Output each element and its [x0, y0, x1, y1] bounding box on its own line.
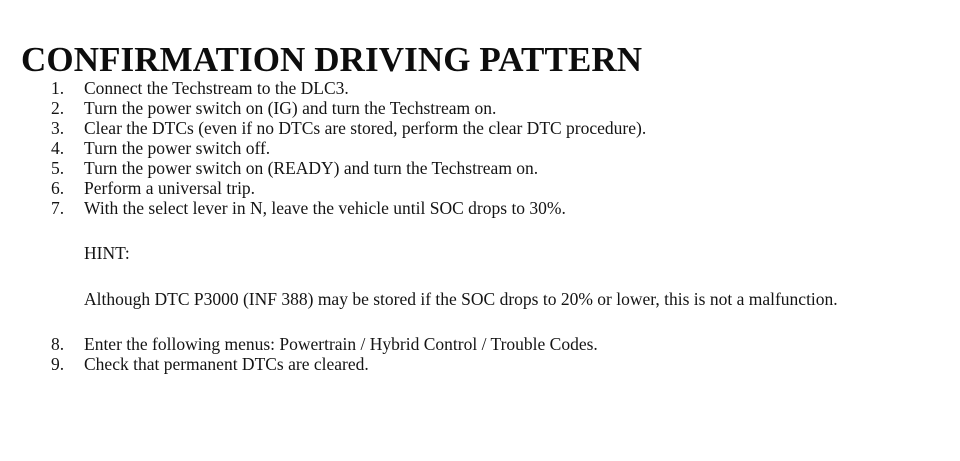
list-item-label: Perform a universal trip. [84, 178, 255, 198]
hint-top-spacer [84, 218, 900, 243]
procedure-list-part-1: 1. Connect the Techstream to the DLC3. 2… [0, 78, 960, 218]
list-item: 6. Perform a universal trip. [0, 178, 960, 198]
hint-mid-spacer [84, 263, 900, 289]
list-item: 1. Connect the Techstream to the DLC3. [0, 78, 960, 98]
document-page: CONFIRMATION DRIVING PATTERN 1. Connect … [0, 0, 960, 461]
list-item-label: Enter the following menus: Powertrain / … [84, 334, 598, 354]
list-item-number: 1. [51, 78, 77, 98]
page-title: CONFIRMATION DRIVING PATTERN [21, 40, 642, 80]
list-item: 2. Turn the power switch on (IG) and tur… [0, 98, 960, 118]
procedure-list-part-2: 8. Enter the following menus: Powertrain… [0, 334, 960, 374]
hint-body-text: Although DTC P3000 (INF 388) may be stor… [84, 289, 884, 309]
document-body: 1. Connect the Techstream to the DLC3. 2… [0, 78, 960, 374]
list-item-number: 8. [51, 334, 77, 354]
list-item-label: With the select lever in N, leave the ve… [84, 198, 566, 218]
list-item-label: Connect the Techstream to the DLC3. [84, 78, 349, 98]
list-item-label: Turn the power switch on (IG) and turn t… [84, 98, 496, 118]
list-item: 7. With the select lever in N, leave the… [0, 198, 960, 218]
list-item-number: 6. [51, 178, 77, 198]
list-item-label: Turn the power switch off. [84, 138, 270, 158]
list-item: 3. Clear the DTCs (even if no DTCs are s… [0, 118, 960, 138]
list-item: 9. Check that permanent DTCs are cleared… [0, 354, 960, 374]
list-item: 4. Turn the power switch off. [0, 138, 960, 158]
list-item-number: 2. [51, 98, 77, 118]
list-item-number: 5. [51, 158, 77, 178]
list-item-number: 4. [51, 138, 77, 158]
list-item-label: Clear the DTCs (even if no DTCs are stor… [84, 118, 646, 138]
list-item: 5. Turn the power switch on (READY) and … [0, 158, 960, 178]
list-item-label: Check that permanent DTCs are cleared. [84, 354, 369, 374]
list-item-number: 3. [51, 118, 77, 138]
hint-label: HINT: [84, 243, 900, 263]
list-item-number: 9. [51, 354, 77, 374]
section-gap [0, 309, 960, 334]
list-item-label: Turn the power switch on (READY) and tur… [84, 158, 538, 178]
list-item: 8. Enter the following menus: Powertrain… [0, 334, 960, 354]
hint-section: HINT: Although DTC P3000 (INF 388) may b… [0, 218, 960, 309]
list-item-number: 7. [51, 198, 77, 218]
